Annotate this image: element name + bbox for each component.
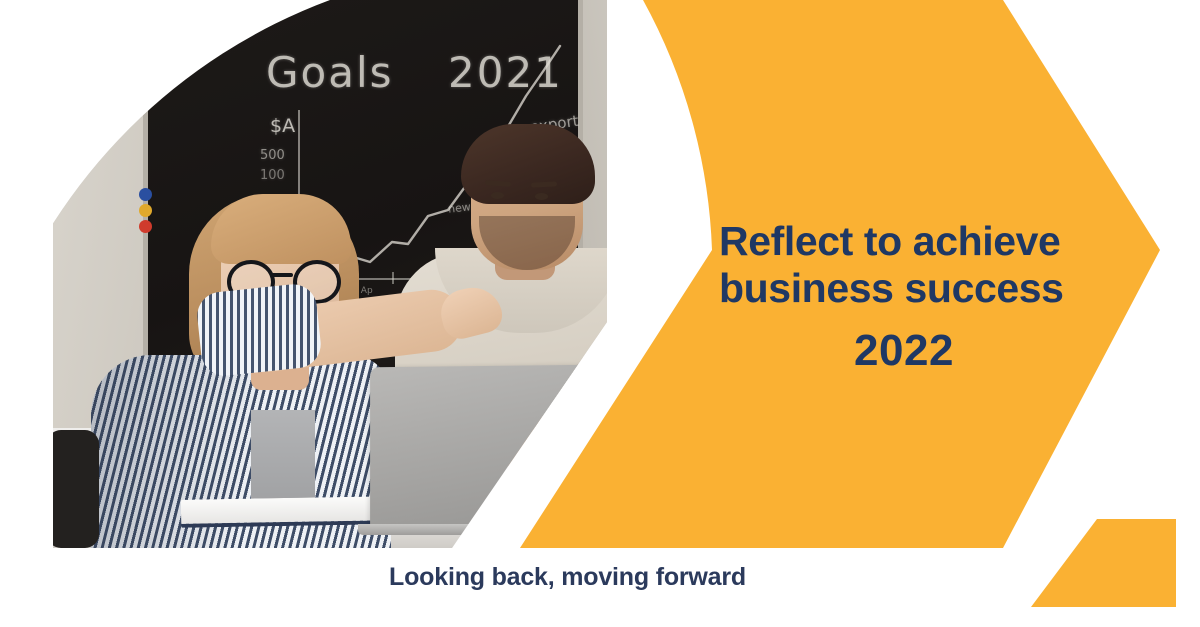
man-eye-left	[491, 192, 504, 199]
chalk-tick-500: 500	[260, 148, 285, 163]
glasses-bridge	[271, 273, 293, 277]
year-label: 2022	[719, 325, 1089, 377]
man-hair	[461, 124, 595, 204]
subtitle: Looking back, moving forward	[0, 563, 1135, 592]
man-eye-right	[535, 193, 548, 200]
chair	[53, 430, 99, 548]
headline: Reflect to achieve business success	[719, 218, 1119, 312]
banner-root: Goals 2021 $A 500 100 export new shop Ma…	[0, 0, 1200, 627]
woman-hair-front	[211, 194, 351, 264]
woman-sleeve	[195, 282, 323, 378]
